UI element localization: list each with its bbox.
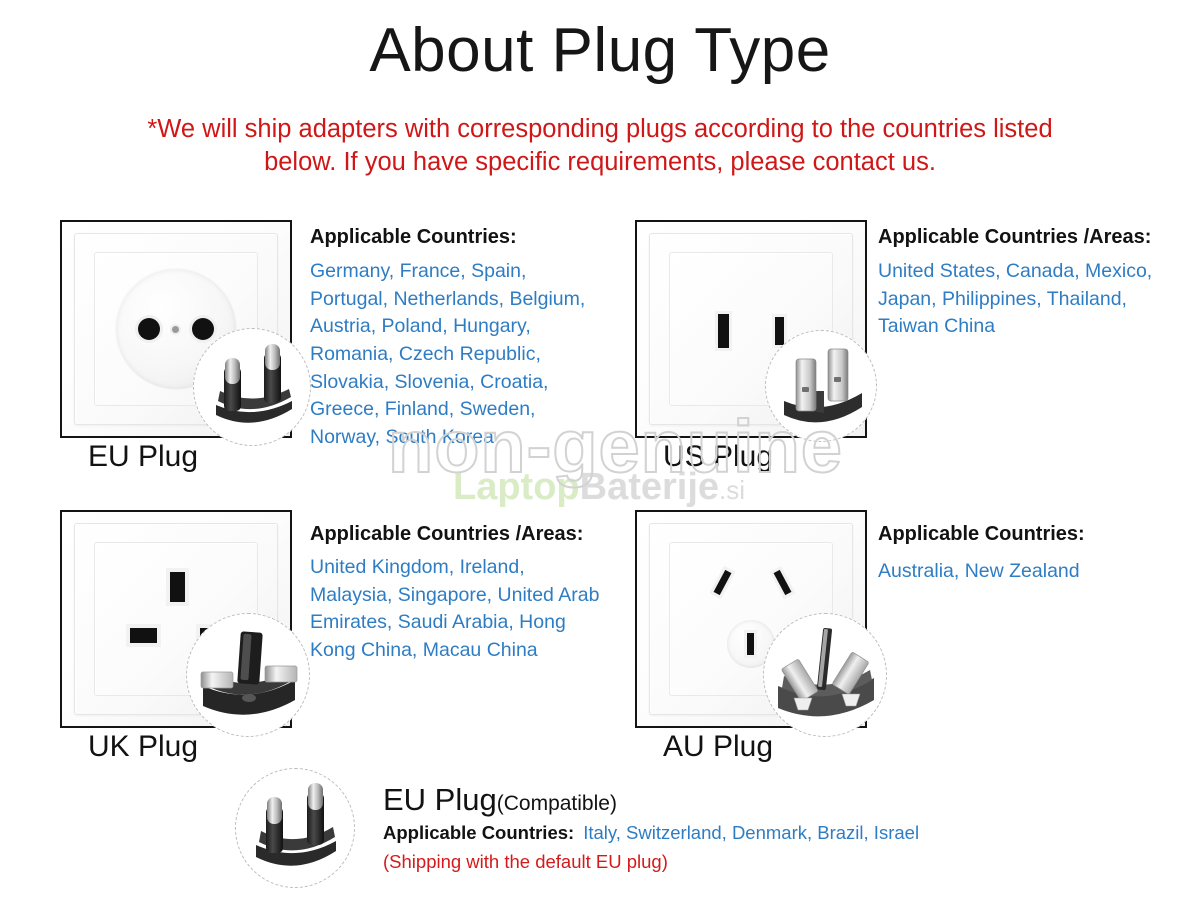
au-plug-drawing: [764, 614, 887, 737]
shipping-notice: *We will ship adapters with correspondin…: [60, 113, 1140, 179]
heading-eu-compatible-countries: Applicable Countries:: [383, 822, 574, 843]
au-socket-slot-earth: [747, 633, 754, 655]
uk-socket-slot-earth: [170, 572, 185, 602]
heading-eu-countries: Applicable Countries:: [310, 226, 517, 249]
list-us-countries: United States, Canada, Mexico, Japan, Ph…: [878, 258, 1168, 341]
eu-plug-inset-icon: [193, 328, 311, 446]
caption-eu-plug: EU Plug: [88, 440, 198, 474]
shipping-notice-line-2: below. If you have specific requirements…: [60, 146, 1140, 179]
eu-socket-hole-left: [138, 318, 160, 340]
heading-au-countries: Applicable Countries:: [878, 523, 1085, 546]
page-title: About Plug Type: [0, 18, 1200, 83]
caption-uk-plug: UK Plug: [88, 730, 198, 764]
caption-us-plug: US Plug: [663, 440, 773, 474]
eu-compatible-countries-row: Applicable Countries:Italy, Switzerland,…: [383, 822, 919, 844]
watermark-site-part3: .si: [719, 475, 745, 505]
watermark-site-part1: Laptop: [453, 466, 580, 508]
eu-socket-center-pin: [172, 326, 179, 333]
eu-socket-hole-right: [192, 318, 214, 340]
eu-plug-drawing: [194, 329, 311, 446]
us-plug-drawing: [766, 331, 877, 442]
list-eu-compatible-countries: Italy, Switzerland, Denmark, Brazil, Isr…: [574, 822, 919, 843]
shipping-notice-line-1: *We will ship adapters with correspondin…: [60, 113, 1140, 146]
au-plug-inset-icon: [763, 613, 887, 737]
caption-au-plug: AU Plug: [663, 730, 773, 764]
list-uk-countries: United Kingdom, Ireland, Malaysia, Singa…: [310, 554, 600, 665]
eu-compatible-plug-drawing: [236, 769, 355, 888]
caption-eu-compatible: EU Plug(Compatible): [383, 782, 617, 818]
uk-plug-inset-icon: [186, 613, 310, 737]
us-plug-inset-icon: [765, 330, 877, 442]
list-au-countries: Australia, New Zealand: [878, 558, 1168, 586]
list-eu-countries: Germany, France, Spain, Portugal, Nether…: [310, 258, 595, 452]
heading-us-countries: Applicable Countries /Areas:: [878, 226, 1151, 249]
eu-compatible-plug-inset-icon: [235, 768, 355, 888]
us-socket-slot-right: [775, 317, 784, 345]
us-socket-slot-left: [718, 314, 729, 348]
caption-eu-compatible-main: EU Plug: [383, 782, 497, 817]
caption-eu-compatible-suffix: (Compatible): [497, 792, 617, 815]
heading-uk-countries: Applicable Countries /Areas:: [310, 523, 583, 546]
uk-plug-drawing: [187, 614, 310, 737]
eu-compatible-shipping-note: (Shipping with the default EU plug): [383, 851, 668, 873]
uk-socket-slot-live: [130, 628, 157, 643]
